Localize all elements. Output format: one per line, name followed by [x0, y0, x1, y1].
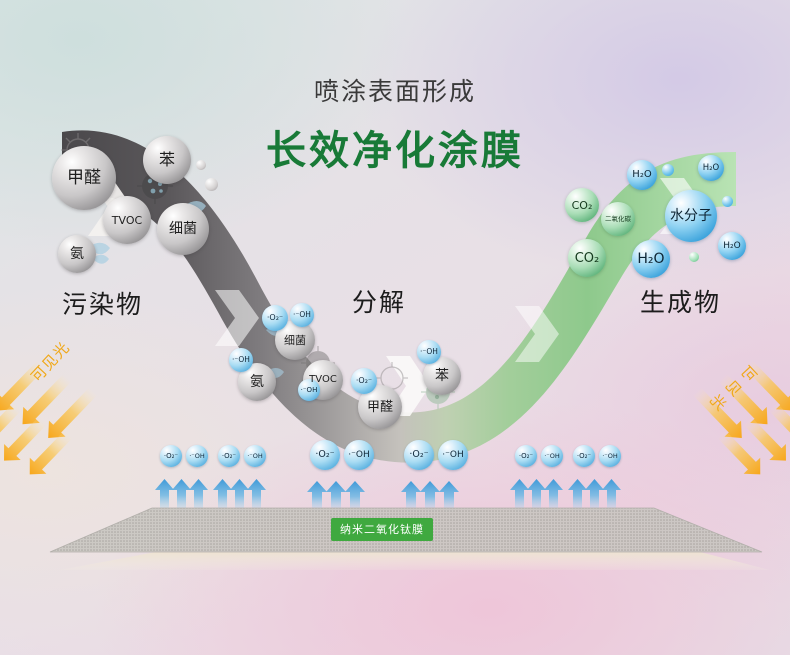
droplet-icon-1	[662, 164, 674, 176]
section-label-decompose: 分解	[352, 283, 406, 319]
platform-substrate	[60, 552, 770, 570]
radical-superoxide-b3: ·O₂⁻	[310, 440, 340, 470]
infographic-canvas: 喷涂表面形成 长效净化涂膜 污染物 分解 生成物 可见光 可见光 纳米二氧化钛膜…	[0, 0, 790, 655]
bubble-product-co2-1: CO₂	[565, 188, 599, 222]
page-subtitle: 喷涂表面形成	[0, 72, 790, 108]
radical-arrows	[155, 479, 621, 512]
droplet-icon-5	[205, 178, 218, 191]
bubble-product-carbon-dioxide-cn: 二氧化碳	[601, 202, 635, 236]
radical-hydroxyl-d4: ·⁻OH	[417, 340, 441, 364]
radical-hydroxyl-b1: ·⁻OH	[186, 445, 208, 467]
section-label-pollutants: 污染物	[62, 285, 143, 321]
section-label-products: 生成物	[640, 283, 721, 319]
bubble-pollutant-formaldehyde: 甲醛	[52, 146, 116, 210]
bubble-pollutant-benzene: 苯	[143, 136, 191, 184]
bubble-product-water-molecule: 水分子	[665, 190, 717, 242]
droplet-icon-4	[196, 160, 206, 170]
droplet-icon-3	[689, 252, 699, 262]
radical-hydroxyl-b3: ·⁻OH	[344, 440, 374, 470]
bubble-product-h2o-4: H₂O	[718, 232, 746, 260]
radical-superoxide-d1: ·O₂⁻	[262, 305, 288, 331]
radical-hydroxyl-d2: ·⁻OH	[229, 348, 253, 372]
radical-superoxide-b4: ·O₂⁻	[404, 440, 434, 470]
bubble-pollutant-bacteria: 细菌	[157, 203, 209, 255]
bubble-product-h2o-2: H₂O	[632, 240, 670, 278]
radical-superoxide-b6: ·O₂⁻	[573, 445, 595, 467]
bubble-pollutant-ammonia: 氨	[58, 235, 96, 273]
radical-hydroxyl-b5: ·⁻OH	[541, 445, 563, 467]
bubble-product-h2o-1: H₂O	[627, 160, 657, 190]
droplet-icon-2	[722, 196, 733, 207]
radical-hydroxyl-b4: ·⁻OH	[438, 440, 468, 470]
bubble-pollutant-tvoc: TVOC	[103, 196, 151, 244]
radical-superoxide-b5: ·O₂⁻	[515, 445, 537, 467]
bubble-product-h2o-3: H₂O	[698, 155, 724, 181]
radical-superoxide-b2: ·O₂⁻	[218, 445, 240, 467]
nano-film-badge: 纳米二氧化钛膜	[331, 518, 433, 541]
radical-hydroxyl-d1: ·⁻OH	[290, 303, 314, 327]
bubble-product-co2-2: CO₂	[568, 239, 606, 277]
radical-superoxide-b1: ·O₂⁻	[160, 445, 182, 467]
radical-hydroxyl-b6: ·⁻OH	[599, 445, 621, 467]
radical-hydroxyl-b2: ·⁻OH	[244, 445, 266, 467]
radical-superoxide-d2: ·O₂⁻	[351, 368, 377, 394]
